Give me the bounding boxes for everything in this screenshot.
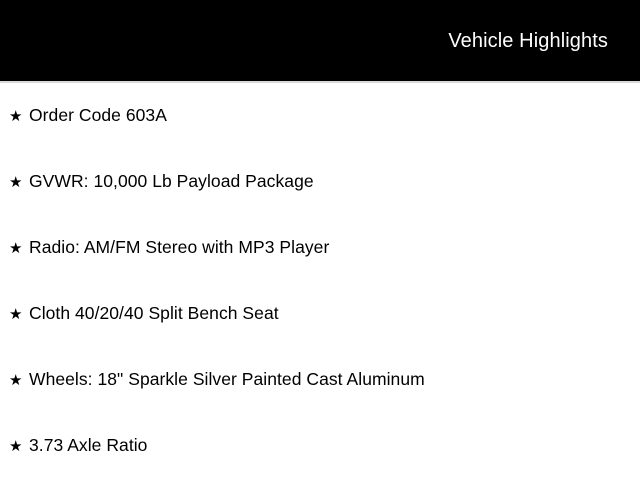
vehicle-highlights-list: ★ Order Code 603A ★ GVWR: 10,000 Lb Payl… <box>0 83 640 480</box>
list-item: ★ Order Code 603A <box>0 83 640 149</box>
highlight-label: 3.73 Axle Ratio <box>29 436 147 455</box>
page-title: Vehicle Highlights <box>448 31 608 51</box>
list-item: ★ GVWR: 10,000 Lb Payload Package <box>0 149 640 215</box>
list-item: ★ Radio: AM/FM Stereo with MP3 Player <box>0 215 640 281</box>
star-icon: ★ <box>9 439 29 454</box>
highlight-label: GVWR: 10,000 Lb Payload Package <box>29 172 314 191</box>
header-bar: Vehicle Highlights <box>0 0 640 81</box>
highlight-label: Order Code 603A <box>29 106 167 125</box>
star-icon: ★ <box>9 109 29 124</box>
highlight-label: Wheels: 18" Sparkle Silver Painted Cast … <box>29 370 425 389</box>
list-item: ★ 3.73 Axle Ratio <box>0 413 640 479</box>
list-item: ★ Wheels: 18" Sparkle Silver Painted Cas… <box>0 347 640 413</box>
star-icon: ★ <box>9 307 29 322</box>
star-icon: ★ <box>9 373 29 388</box>
highlight-label: Cloth 40/20/40 Split Bench Seat <box>29 304 279 323</box>
vehicle-highlights-page: Vehicle Highlights ★ Order Code 603A ★ G… <box>0 0 640 480</box>
star-icon: ★ <box>9 241 29 256</box>
highlight-label: Radio: AM/FM Stereo with MP3 Player <box>29 238 329 257</box>
list-item: ★ Cloth 40/20/40 Split Bench Seat <box>0 281 640 347</box>
star-icon: ★ <box>9 175 29 190</box>
